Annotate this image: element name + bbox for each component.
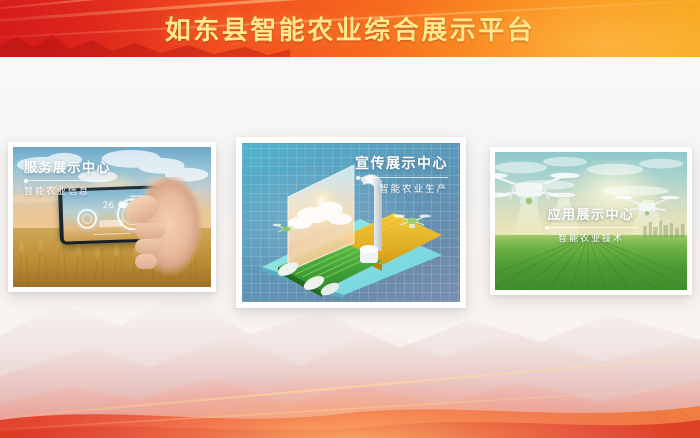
title-divider xyxy=(24,180,108,181)
finger xyxy=(135,239,161,254)
card-service-display-center[interactable]: 26 xyxy=(8,142,216,292)
finger xyxy=(135,223,165,238)
card-promotion-title: 宣传展示中心 xyxy=(355,153,448,173)
card-application-title: 应用展示中心 xyxy=(495,204,687,223)
card-promotion-text-block: 宣传展示中心 智能农业生产 xyxy=(355,153,448,195)
svg-text:26: 26 xyxy=(103,201,115,211)
card-application-text-block: 应用展示中心 智能农业技术 xyxy=(495,204,687,244)
finger xyxy=(135,254,157,269)
card-service-subtitle: 智能农业信息 xyxy=(24,184,111,197)
card-application-image: 应用展示中心 智能农业技术 xyxy=(495,152,687,290)
card-service-title: 服务展示中心 xyxy=(24,157,111,176)
card-service-image: 26 xyxy=(13,147,211,287)
hand-holding-phone xyxy=(129,177,207,285)
header-banner: 如东县智能农业综合展示平台 xyxy=(0,0,700,57)
card-application-subtitle: 智能农业技术 xyxy=(495,231,687,244)
card-application-display-center[interactable]: 应用展示中心 智能农业技术 xyxy=(490,147,692,295)
title-divider xyxy=(545,227,637,228)
card-service-text-block: 服务展示中心 智能农业信息 xyxy=(24,157,111,197)
title-divider xyxy=(356,177,448,178)
card-promotion-display-center[interactable]: 宣传展示中心 智能农业生产 xyxy=(236,137,466,308)
page-canvas: 如东县智能农业综合展示平台 xyxy=(0,0,700,438)
card-promotion-subtitle: 智能农业生产 xyxy=(355,181,448,195)
card-promotion-image: 宣传展示中心 智能农业生产 xyxy=(242,143,460,302)
page-title: 如东县智能农业综合展示平台 xyxy=(0,0,700,57)
warm-glow-overlay xyxy=(0,318,700,438)
